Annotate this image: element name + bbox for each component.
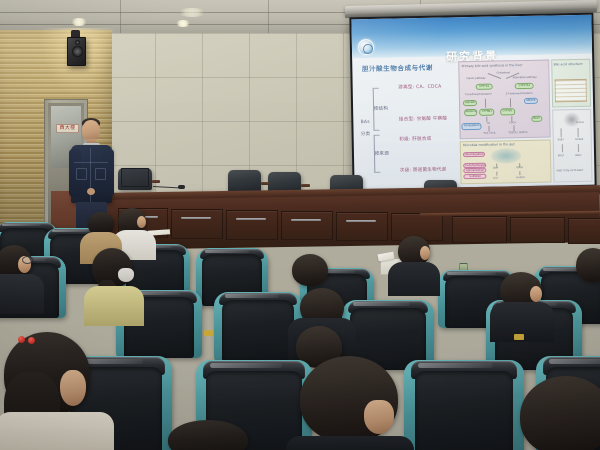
figure-d-node-asbt: ASBT [558,138,564,141]
figure-b-node-deconjugation: Deconjugation [463,152,484,158]
presenter-jacket-pocket [76,168,87,180]
tree-item-0: 游离型: CA、CDCA [398,84,441,91]
figure-c-table [555,79,587,102]
figure-a-label-7a-hydroxy: 7a-hydroxycholesterol [465,93,492,97]
figure-b-product-udca: UDCA [516,166,523,169]
figure-a-node-cyp7a1: CYP7A1 [475,83,493,89]
ceiling-downlight [175,20,191,27]
small-yellow-object [204,330,213,336]
figure-a-node-cyp27a1: CYP27A1 [515,82,535,88]
figure-a-node-cyp7b1: CYP7B1 [500,109,515,115]
face-mask [118,268,134,282]
tree-axis-label-2: 分类 [361,131,371,137]
presenter-head [82,120,100,141]
shoulders-woman-left [0,274,44,314]
ceiling-downlight [177,8,207,17]
head-table-panel [568,218,600,244]
stage-chair [228,170,261,192]
bile-acid-classification-tree: BAs 分类 按结构 按来源 游离型: CA、CDCA 结合型: 甘氨酸 牛磺酸… [360,79,458,179]
stage-chair-arm [261,182,269,185]
head-partial-bottom-left [168,420,248,450]
tree-item-3: 次级: 肠道菌生物代谢 [400,166,447,173]
head-man-right-b [576,248,600,282]
head-table-panel [171,209,223,239]
figure-b-product-dca: DCA [493,167,498,170]
shoulders-man-front-center [286,436,414,450]
wall-speaker [67,37,86,66]
stage-chair-arm [152,180,160,183]
head-table-handle [291,219,321,221]
head-man-right-a [292,254,328,286]
figure-bile-acid-synthesis-pathway: Primary bile acid synthesis in the liver… [458,60,551,140]
figure-a-footer-tca: TCA / GCA [483,132,495,135]
shoulders-person-masked [84,286,144,326]
figure-bile-acid-structure: Bile acid structure [551,59,590,107]
head-table-panel [281,211,333,240]
figure-a-label-classic: Classic pathway [466,77,485,80]
head-table-panel [510,217,565,243]
projection-screen: 研究背景 胆汁酸生物合成与代谢 BAs 分类 按结构 按来源 游离型: CA、C… [349,13,596,192]
stage-chair-arm [301,184,310,187]
figure-d-caption: In vivo [576,121,584,124]
figure-a-caption: Primary bile acid synthesis in the liver [462,64,523,69]
tree-branch-2: 按来源 [375,151,390,157]
presenter-jacket-pocket [95,168,106,180]
gooseneck-microphone [178,185,185,189]
figure-a-node-baat: BAAT [531,116,542,122]
tree-axis-label-1: BAs [361,120,370,125]
red-hair-tie [18,336,25,343]
figure-a-node-conjugation: Conjugation [462,123,482,130]
small-yellow-object [514,334,524,340]
laptop[interactable] [121,168,149,187]
glasses [22,256,33,264]
figure-a-node-ca: CA [487,121,490,124]
figure-enterohepatic-circulation: In vivo ASBT OSTa/b NTCP BSEP ASBT OSTa … [552,108,592,182]
head-table-panel [336,212,388,241]
head-table-handle [181,217,211,219]
head-man-front-center [300,356,398,442]
tree-item-1: 结合型: 甘氨酸 牛磺酸 [399,115,447,122]
ceiling-downlight [70,18,88,26]
figure-gut-microbial-modification: Microbial modification in the gut Deconj… [459,140,551,184]
presenter-jacket-seam [74,162,108,163]
slide-heading: 胆汁酸生物合成与代谢 [362,62,433,73]
figure-a-node-akr1d1: AKR1D1 [464,109,477,115]
figure-a-footer-tcdca: TCDCA / GCDCA [508,131,527,134]
figure-b-node-sulfation: Sulfation [464,173,487,178]
figure-a-label-alternative: Alternative pathway [513,76,537,79]
shoulders-woman-front-left [0,412,114,450]
figure-a-node-amacr: AMACR [524,98,538,104]
figure-b-product-isodca: IsoDCA [516,176,525,179]
figure-d-footnote: ASBT OSTa OSTb BSEP [556,169,583,173]
shoulders-man-center [388,262,440,296]
lecture-hall-photo: 西大楼 研究背景 胆汁酸生物合成与代谢 BAs 分类 按结构 按来源 游离型: … [0,0,600,450]
red-hair-tie [28,337,35,344]
figure-c-caption: Bile acid structure [554,61,583,66]
tree-branch-1: 按结构 [374,105,389,111]
head-table-handle [236,218,266,220]
presentation-slide: 研究背景 胆汁酸生物合成与代谢 BAs 分类 按结构 按来源 游离型: CA、C… [351,15,594,190]
figure-d-node-ntcp: NTCP [558,154,564,157]
figure-a-node-cyp8b1: CYP8B1 [479,109,494,115]
head-table-panel [452,216,507,243]
head-table-handle [346,220,376,222]
figure-d-node-bsep: BSEP [575,154,581,157]
seat[interactable] [404,360,524,450]
head-person-front-right [520,376,600,450]
tree-item-2: 初级: 肝脏合成 [399,136,431,143]
figure-a-label-27-hydroxy: 27-hydroxycholesterol [506,92,533,96]
figure-b-product-lca: LCA [493,176,498,179]
figure-b-node-epimerization: Epimerization [464,168,487,173]
presenter-hand [87,188,95,195]
head-table-panel [226,210,278,240]
figure-a-node-cdca: CDCA [509,121,516,124]
figure-a-node-cholesterol: Cholesterol [496,71,510,74]
figure-b-caption: Microbial modification in the gut [463,143,515,148]
figure-a-node-hsd3b7: HSD3B7 [463,100,477,106]
figure-d-node-ostab: OSTa/b [575,138,583,141]
